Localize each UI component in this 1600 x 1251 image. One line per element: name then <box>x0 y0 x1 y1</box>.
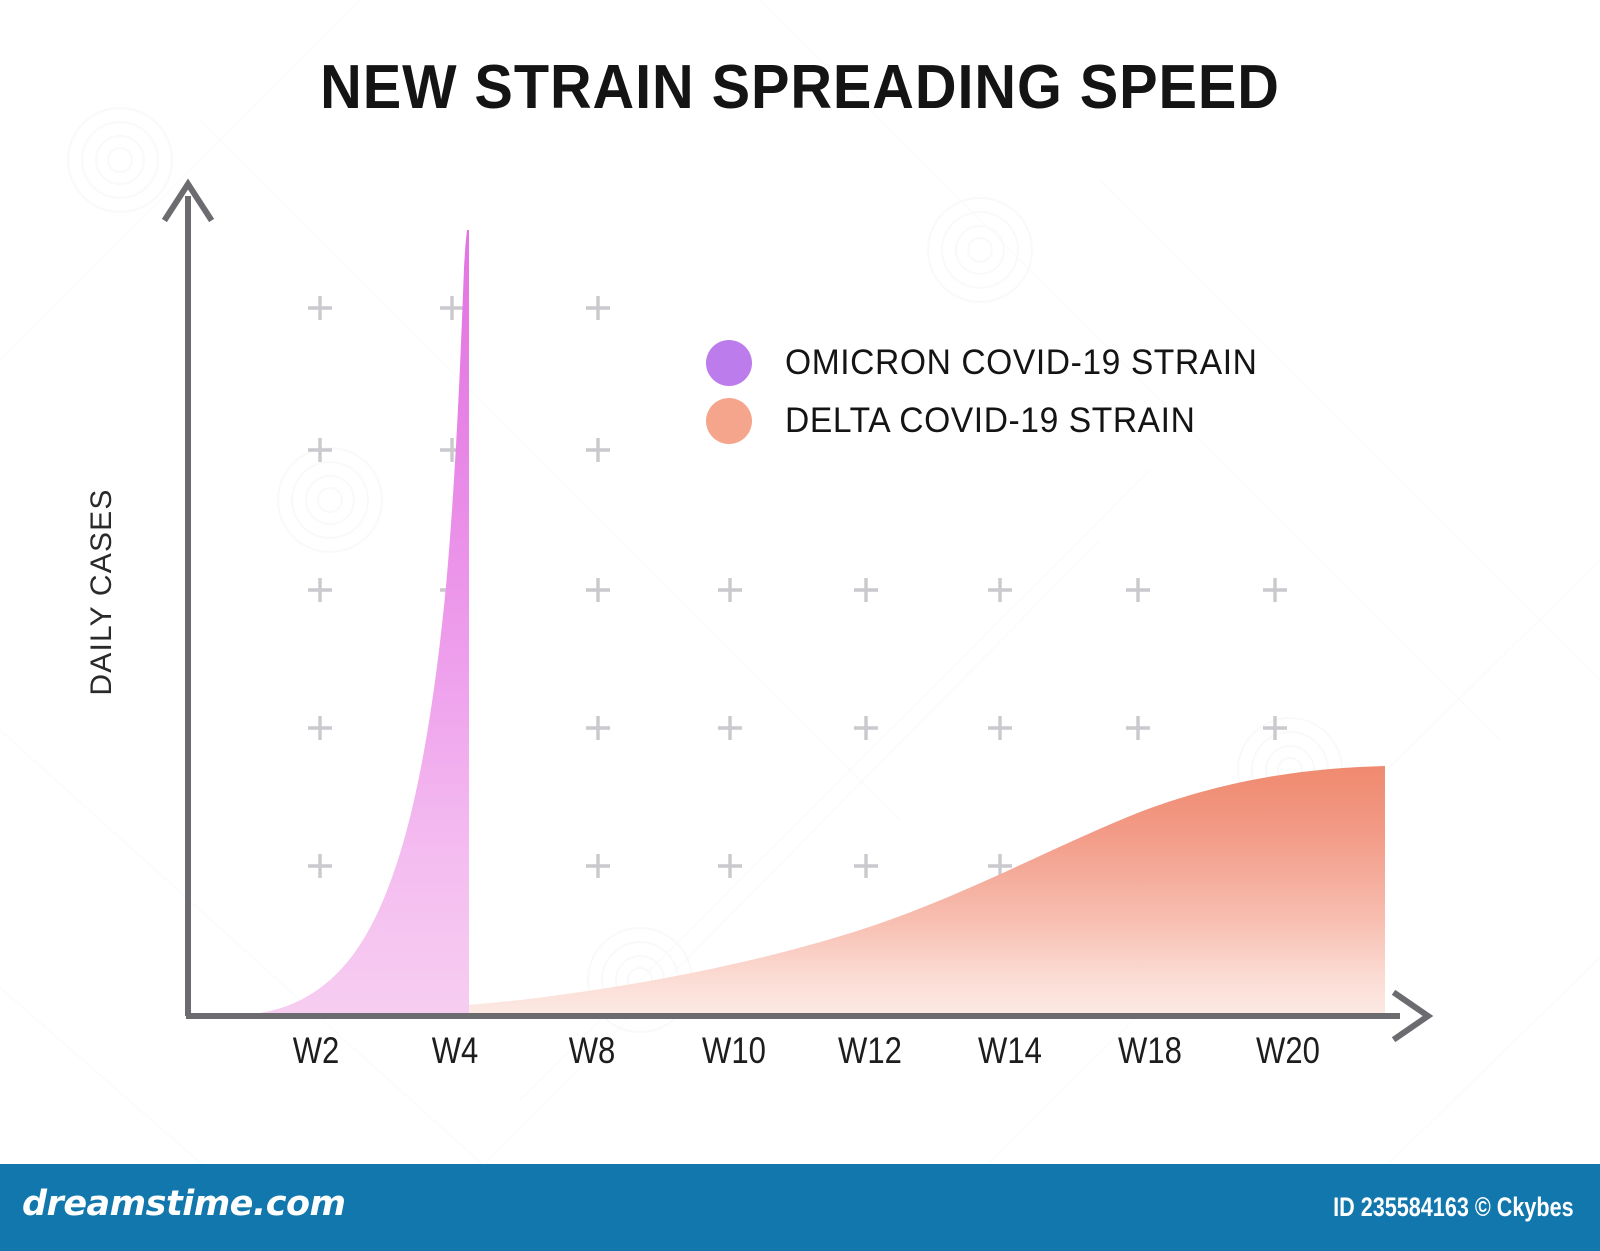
circle-marker-icon <box>706 340 752 386</box>
x-tick-label-w18: W18 <box>1100 1030 1201 1072</box>
x-tick-label-w20: W20 <box>1238 1030 1339 1072</box>
x-tick-label-w4: W4 <box>405 1030 506 1072</box>
watermark-footer-bar: dreamstime.com ID 235584163 © Ckybes <box>0 1164 1600 1251</box>
plot-area: DAILY CASES W2 W4 W8 W10 W12 W14 W18 W20 <box>0 0 1600 1120</box>
legend-label-omicron: OMICRON COVID-19 STRAIN <box>785 343 1258 383</box>
series-area-omicron <box>232 230 469 1016</box>
x-tick-label-w10: W10 <box>684 1030 785 1072</box>
y-axis <box>166 184 210 1016</box>
image-id-credit: ID 235584163 © Ckybes <box>1334 1192 1574 1223</box>
x-tick-label-w8: W8 <box>542 1030 643 1072</box>
x-tick-label-w14: W14 <box>960 1030 1061 1072</box>
dreamstime-logo: dreamstime.com <box>22 1184 345 1224</box>
x-tick-label-w12: W12 <box>820 1030 921 1072</box>
plot-svg <box>0 0 1600 1120</box>
legend-item-delta[interactable]: DELTA COVID-19 STRAIN <box>706 392 1277 450</box>
chart-root: NEW STRAIN SPREADING SPEED <box>0 0 1600 1251</box>
legend-item-omicron[interactable]: OMICRON COVID-19 STRAIN <box>706 334 1277 392</box>
circle-marker-icon <box>706 398 752 444</box>
legend: OMICRON COVID-19 STRAIN DELTA COVID-19 S… <box>706 334 1277 450</box>
x-tick-label-w2: W2 <box>266 1030 367 1072</box>
y-axis-label: DAILY CASES <box>85 462 119 722</box>
legend-label-delta: DELTA COVID-19 STRAIN <box>785 401 1195 441</box>
